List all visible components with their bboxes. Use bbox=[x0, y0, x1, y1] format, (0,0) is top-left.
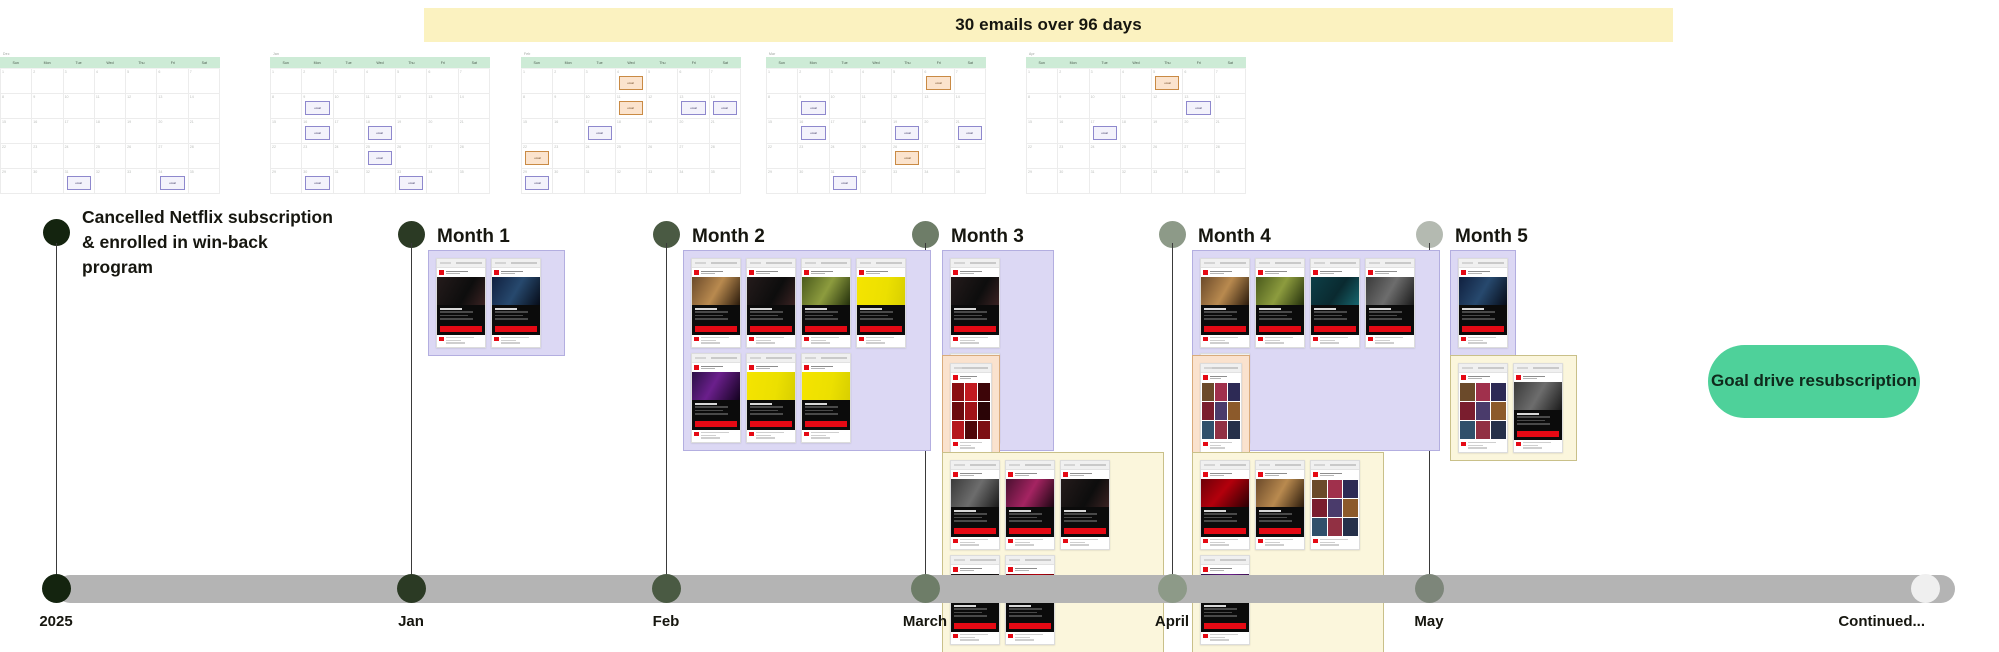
calendar-day-cell[interactable]: 23 bbox=[798, 144, 829, 169]
email-cta-button[interactable] bbox=[1204, 528, 1246, 534]
email-thumbnail[interactable] bbox=[801, 353, 851, 443]
email-thumbnail[interactable] bbox=[1200, 460, 1250, 550]
email-cta-button[interactable] bbox=[1314, 326, 1356, 332]
calendar-day-cell[interactable]: 34email bbox=[157, 169, 188, 194]
email-cta-button[interactable] bbox=[695, 326, 737, 332]
calendar-day-cell[interactable]: 16 bbox=[1058, 119, 1089, 144]
calendar-day-cell[interactable]: 27 bbox=[427, 144, 458, 169]
calendar-day-cell[interactable]: 32 bbox=[1121, 169, 1152, 194]
calendar-day-cell[interactable]: 18 bbox=[95, 119, 126, 144]
calendar-day-cell[interactable]: 35 bbox=[710, 169, 741, 194]
calendar-day-cell[interactable]: 15 bbox=[1027, 119, 1058, 144]
calendar-day-cell[interactable]: 34 bbox=[427, 169, 458, 194]
calendar-day-cell[interactable]: 20 bbox=[923, 119, 954, 144]
email-group[interactable] bbox=[942, 452, 1164, 652]
calendar-day-cell[interactable]: 12 bbox=[892, 94, 923, 119]
email-thumbnail[interactable] bbox=[691, 353, 741, 443]
calendar-day-cell[interactable]: 18email bbox=[365, 119, 396, 144]
calendar-day-cell[interactable]: 28 bbox=[189, 144, 220, 169]
calendar-day-cell[interactable]: 23 bbox=[1058, 144, 1089, 169]
calendar-day-cell[interactable]: 16email bbox=[798, 119, 829, 144]
email-footer-lines bbox=[1375, 337, 1413, 345]
email-footer bbox=[1201, 632, 1249, 644]
calendar-day-cell[interactable]: 15 bbox=[522, 119, 553, 144]
calendar-day-cell[interactable]: 24 bbox=[334, 144, 365, 169]
calendar-day-cell[interactable]: 30 bbox=[553, 169, 584, 194]
calendar-day-cell[interactable]: 24 bbox=[64, 144, 95, 169]
calendar-day-cell[interactable]: 10 bbox=[64, 94, 95, 119]
calendar-email-event[interactable]: email bbox=[588, 126, 612, 140]
calendar-day-cell[interactable]: 1 bbox=[767, 69, 798, 94]
calendar-weekday: Fri bbox=[923, 61, 954, 65]
calendar-day-cell[interactable]: 25 bbox=[616, 144, 647, 169]
email-cta-button[interactable] bbox=[860, 326, 902, 332]
calendar-day-cell[interactable]: 31 bbox=[585, 169, 616, 194]
calendar-day-cell[interactable]: 10 bbox=[830, 94, 861, 119]
calendar-day-cell[interactable]: 13 bbox=[157, 94, 188, 119]
calendar-day-cell[interactable]: 33 bbox=[1152, 169, 1183, 194]
email-thumbnail[interactable] bbox=[801, 258, 851, 348]
calendar-day-cell[interactable]: 2 bbox=[798, 69, 829, 94]
calendar-day-cell[interactable]: 3 bbox=[334, 69, 365, 94]
calendar-day-cell[interactable]: 6 bbox=[1183, 69, 1214, 94]
calendar-day-cell[interactable]: 27 bbox=[923, 144, 954, 169]
netflix-logo-icon bbox=[1313, 337, 1318, 341]
calendar-day-cell[interactable]: 8 bbox=[1, 94, 32, 119]
calendar-day-cell[interactable]: 12 bbox=[396, 94, 427, 119]
email-footer-lines bbox=[1210, 337, 1248, 345]
calendar-day-cell[interactable]: 22email bbox=[522, 144, 553, 169]
calendar-day-cell[interactable]: 26email bbox=[892, 144, 923, 169]
calendar-day-cell[interactable]: 14email bbox=[710, 94, 741, 119]
netflix-logo-icon bbox=[1368, 337, 1373, 341]
email-thumbnail[interactable] bbox=[1005, 460, 1055, 550]
calendar-email-event[interactable]: email bbox=[619, 101, 643, 115]
calendar-day-cell[interactable]: 32 bbox=[861, 169, 892, 194]
calendar-event-label: email bbox=[75, 181, 81, 185]
calendar-day-cell[interactable]: 22 bbox=[1, 144, 32, 169]
email-sender-lines bbox=[960, 473, 998, 477]
email-thumbnail[interactable] bbox=[1513, 363, 1563, 453]
calendar-day-cell[interactable]: 16 bbox=[32, 119, 63, 144]
email-poster-tile bbox=[1312, 499, 1327, 517]
calendar-email-event[interactable]: email bbox=[895, 126, 919, 140]
calendar-email-event[interactable]: email bbox=[525, 151, 549, 165]
calendar-day-cell[interactable]: 32 bbox=[365, 169, 396, 194]
email-thumbnail[interactable] bbox=[950, 363, 992, 453]
calendar-day-cell[interactable]: 34 bbox=[1183, 169, 1214, 194]
calendar-day-cell[interactable]: 10 bbox=[1090, 94, 1121, 119]
calendar-day-cell[interactable]: 11 bbox=[861, 94, 892, 119]
calendar-day-cell[interactable]: 27 bbox=[678, 144, 709, 169]
calendar-day-cell[interactable]: 6 bbox=[678, 69, 709, 94]
calendar-day-cell[interactable]: 7 bbox=[1215, 69, 1246, 94]
calendar-day-cell[interactable]: 2 bbox=[1058, 69, 1089, 94]
calendar-day-cell[interactable]: 21 bbox=[459, 119, 490, 144]
calendar-day-cell[interactable]: 30 bbox=[32, 169, 63, 194]
calendar-day-cell[interactable]: 5 bbox=[396, 69, 427, 94]
calendar-day-cell[interactable]: 7 bbox=[955, 69, 986, 94]
calendar-day-cell[interactable]: 9 bbox=[32, 94, 63, 119]
calendar-day-cell[interactable]: 11 bbox=[1121, 94, 1152, 119]
calendar-email-event[interactable]: email bbox=[399, 176, 423, 190]
calendar-day-cell[interactable]: 2 bbox=[302, 69, 333, 94]
calendar-email-event[interactable]: email bbox=[1155, 76, 1179, 90]
email-thumbnail[interactable] bbox=[1458, 258, 1508, 348]
email-thumbnail[interactable] bbox=[1200, 363, 1242, 453]
calendar-day-cell[interactable]: 13email bbox=[1183, 94, 1214, 119]
calendar-email-event[interactable]: email bbox=[833, 176, 857, 190]
calendar-day-cell[interactable]: 26 bbox=[396, 144, 427, 169]
calendar-day-cell[interactable]: 32 bbox=[95, 169, 126, 194]
calendar-day-cell[interactable]: 8 bbox=[1027, 94, 1058, 119]
calendar-day-cell[interactable]: 12 bbox=[1152, 94, 1183, 119]
calendar-email-event[interactable]: email bbox=[958, 126, 982, 140]
calendar-day-cell[interactable]: 35 bbox=[1215, 169, 1246, 194]
calendar-day-cell[interactable]: 8 bbox=[522, 94, 553, 119]
calendar-day-number: 30 bbox=[799, 170, 828, 175]
calendar-day-cell[interactable]: 24 bbox=[1090, 144, 1121, 169]
calendar-day-cell[interactable]: 16 bbox=[553, 119, 584, 144]
calendar-day-cell[interactable]: 5 bbox=[892, 69, 923, 94]
calendar-day-cell[interactable]: 11email bbox=[616, 94, 647, 119]
calendar-email-event[interactable]: email bbox=[67, 176, 91, 190]
calendar-day-cell[interactable]: 10 bbox=[334, 94, 365, 119]
calendar-day-number: 15 bbox=[523, 120, 552, 125]
email-footer-lines bbox=[446, 337, 484, 345]
email-cta-button[interactable] bbox=[1517, 431, 1559, 437]
calendar-day-cell[interactable]: 28 bbox=[955, 144, 986, 169]
calendar-email-event[interactable]: email bbox=[305, 101, 329, 115]
calendar-day-cell[interactable]: 22 bbox=[271, 144, 302, 169]
email-thumbnail[interactable] bbox=[1060, 460, 1110, 550]
calendar-email-event[interactable]: email bbox=[160, 176, 184, 190]
calendar-day-cell[interactable]: 6 bbox=[427, 69, 458, 94]
calendar-day-cell[interactable]: 24 bbox=[585, 144, 616, 169]
calendar-day-cell[interactable]: 27 bbox=[157, 144, 188, 169]
email-cta-button[interactable] bbox=[495, 326, 537, 332]
calendar-day-cell[interactable]: 3 bbox=[1090, 69, 1121, 94]
calendar-day-cell[interactable]: 9 bbox=[1058, 94, 1089, 119]
email-thumbnail[interactable] bbox=[1255, 460, 1305, 550]
calendar-day-cell[interactable]: 33 bbox=[892, 169, 923, 194]
email-cta-button[interactable] bbox=[954, 326, 996, 332]
calendar-day-cell[interactable]: 18 bbox=[861, 119, 892, 144]
calendar-day-cell[interactable]: 1 bbox=[1027, 69, 1058, 94]
calendar-day-cell[interactable]: 1 bbox=[271, 69, 302, 94]
calendar-day-cell[interactable]: 14 bbox=[1215, 94, 1246, 119]
email-thumbnail[interactable] bbox=[1255, 258, 1305, 348]
axis-tick-dot[interactable] bbox=[1158, 574, 1187, 603]
calendar-email-event[interactable]: email bbox=[1093, 126, 1117, 140]
email-thumbnail[interactable] bbox=[1458, 363, 1508, 453]
calendar-day-cell[interactable]: 29 bbox=[271, 169, 302, 194]
email-client-header bbox=[1201, 461, 1249, 470]
email-cta-button[interactable] bbox=[1369, 326, 1411, 332]
calendar-day-cell[interactable]: 28 bbox=[710, 144, 741, 169]
axis-tick-dot[interactable] bbox=[652, 574, 681, 603]
calendar-day-cell[interactable]: 23 bbox=[32, 144, 63, 169]
email-thumbnail[interactable] bbox=[856, 258, 906, 348]
email-thumbnail[interactable] bbox=[491, 258, 541, 348]
calendar-day-cell[interactable]: 35 bbox=[955, 169, 986, 194]
calendar-day-cell[interactable]: 33email bbox=[396, 169, 427, 194]
calendar-email-event[interactable]: email bbox=[368, 126, 392, 140]
calendar-day-cell[interactable]: 8 bbox=[767, 94, 798, 119]
calendar-day-cell[interactable]: 21email bbox=[955, 119, 986, 144]
calendar-day-number: 1 bbox=[1028, 70, 1057, 75]
calendar-day-cell[interactable]: 23 bbox=[553, 144, 584, 169]
calendar-day-cell[interactable]: 25 bbox=[1121, 144, 1152, 169]
calendar-day-cell[interactable]: 29 bbox=[767, 169, 798, 194]
calendar-event-label: email bbox=[722, 106, 728, 110]
calendar-day-cell[interactable]: 5 bbox=[126, 69, 157, 94]
calendar-day-cell[interactable]: 13 bbox=[427, 94, 458, 119]
email-thumbnail[interactable] bbox=[1310, 460, 1360, 550]
calendar-day-cell[interactable]: 9email bbox=[302, 94, 333, 119]
email-thumbnail[interactable] bbox=[746, 353, 796, 443]
calendar-day-number: 28 bbox=[460, 145, 489, 150]
email-cta-button[interactable] bbox=[750, 421, 792, 427]
calendar-day-cell[interactable]: 29 bbox=[1027, 169, 1058, 194]
calendar-email-event[interactable]: email bbox=[681, 101, 705, 115]
calendar-day-cell[interactable]: 8 bbox=[271, 94, 302, 119]
email-cta-button[interactable] bbox=[1204, 326, 1246, 332]
calendar-day-cell[interactable]: 26 bbox=[647, 144, 678, 169]
calendar-day-cell[interactable]: 16email bbox=[302, 119, 333, 144]
calendar-weekday: Sat bbox=[459, 61, 490, 65]
calendar-day-cell[interactable]: 5 bbox=[647, 69, 678, 94]
calendar-email-event[interactable]: email bbox=[801, 126, 825, 140]
calendar-day-cell[interactable]: 17email bbox=[585, 119, 616, 144]
calendar-day-cell[interactable]: 29email bbox=[522, 169, 553, 194]
calendar-day-number: 19 bbox=[893, 120, 922, 125]
calendar-day-cell[interactable]: 30 bbox=[1058, 169, 1089, 194]
calendar-day-cell[interactable]: 19 bbox=[396, 119, 427, 144]
calendar-day-cell[interactable]: 17email bbox=[1090, 119, 1121, 144]
calendar-day-cell[interactable]: 31email bbox=[64, 169, 95, 194]
calendar-day-cell[interactable]: 19 bbox=[126, 119, 157, 144]
calendar-day-cell[interactable]: 6email bbox=[923, 69, 954, 94]
calendar-day-cell[interactable]: 29 bbox=[1, 169, 32, 194]
calendar-day-cell[interactable]: 20 bbox=[427, 119, 458, 144]
email-cta-button[interactable] bbox=[954, 623, 996, 629]
calendar-day-cell[interactable]: 27 bbox=[1183, 144, 1214, 169]
calendar-day-cell[interactable]: 9email bbox=[798, 94, 829, 119]
email-cta-button[interactable] bbox=[750, 326, 792, 332]
calendar-day-cell[interactable]: 21 bbox=[189, 119, 220, 144]
email-cta-button[interactable] bbox=[1009, 528, 1051, 534]
email-cta-button[interactable] bbox=[805, 326, 847, 332]
email-cta-button[interactable] bbox=[1009, 623, 1051, 629]
calendar-day-cell[interactable]: 18 bbox=[1121, 119, 1152, 144]
email-group[interactable] bbox=[1192, 452, 1384, 652]
calendar-day-cell[interactable]: 28 bbox=[1215, 144, 1246, 169]
calendar-day-number: 24 bbox=[335, 145, 364, 150]
calendar-day-cell[interactable]: 28 bbox=[459, 144, 490, 169]
email-cta-button[interactable] bbox=[954, 528, 996, 534]
calendar-email-event[interactable]: email bbox=[305, 176, 329, 190]
calendar-day-cell[interactable]: 13 bbox=[923, 94, 954, 119]
calendar-day-cell[interactable]: 4 bbox=[861, 69, 892, 94]
email-sender-lines bbox=[1210, 568, 1248, 572]
calendar-day-cell[interactable]: 4 bbox=[1121, 69, 1152, 94]
calendar-day-cell[interactable]: 17 bbox=[830, 119, 861, 144]
email-group[interactable] bbox=[428, 250, 565, 356]
calendar-day-cell[interactable]: 13email bbox=[678, 94, 709, 119]
calendar-day-cell[interactable]: 15 bbox=[1, 119, 32, 144]
calendar-day-cell[interactable]: 35 bbox=[189, 169, 220, 194]
calendar-day-cell[interactable]: 25email bbox=[365, 144, 396, 169]
email-footer-lines bbox=[1320, 337, 1358, 345]
calendar-email-event[interactable]: email bbox=[525, 176, 549, 190]
milestone-dot[interactable] bbox=[43, 219, 70, 246]
email-cta-button[interactable] bbox=[1204, 623, 1246, 629]
calendar-day-cell[interactable]: 12 bbox=[647, 94, 678, 119]
calendar-day-cell[interactable]: 3 bbox=[585, 69, 616, 94]
email-poster-tile bbox=[1228, 383, 1240, 401]
calendar-day-cell[interactable]: 11 bbox=[365, 94, 396, 119]
calendar-day-cell[interactable]: 34 bbox=[678, 169, 709, 194]
calendar-day-cell[interactable]: 5email bbox=[1152, 69, 1183, 94]
email-thumbnail[interactable] bbox=[436, 258, 486, 348]
calendar-day-number: 12 bbox=[1153, 95, 1182, 100]
calendar-day-cell[interactable]: 4email bbox=[616, 69, 647, 94]
calendar-email-event[interactable]: email bbox=[619, 76, 643, 90]
calendar-day-cell[interactable]: 1 bbox=[522, 69, 553, 94]
calendar-day-cell[interactable]: 33 bbox=[647, 169, 678, 194]
calendar-day-cell[interactable]: 2 bbox=[553, 69, 584, 94]
email-footer bbox=[1201, 335, 1249, 347]
calendar-day-cell[interactable]: 31email bbox=[830, 169, 861, 194]
calendar-day-cell[interactable]: 18 bbox=[616, 119, 647, 144]
calendar-day-cell[interactable]: 35 bbox=[459, 169, 490, 194]
calendar-day-cell[interactable]: 20 bbox=[678, 119, 709, 144]
calendar-day-cell[interactable]: 24 bbox=[830, 144, 861, 169]
calendar-day-number: 16 bbox=[303, 120, 332, 125]
calendar-day-cell[interactable]: 19 bbox=[647, 119, 678, 144]
axis-tick-label: April bbox=[1155, 613, 1189, 630]
netflix-logo-icon bbox=[1461, 337, 1466, 341]
calendar-day-cell[interactable]: 17 bbox=[64, 119, 95, 144]
calendar-day-cell[interactable]: 26 bbox=[126, 144, 157, 169]
calendar-day-cell[interactable]: 9 bbox=[553, 94, 584, 119]
calendar-day-cell[interactable]: 14 bbox=[955, 94, 986, 119]
email-group[interactable] bbox=[942, 355, 1000, 461]
calendar-day-cell[interactable]: 4 bbox=[95, 69, 126, 94]
email-thumbnail[interactable] bbox=[950, 258, 1000, 348]
axis-tick-dot[interactable] bbox=[911, 574, 940, 603]
email-thumbnail[interactable] bbox=[1200, 258, 1250, 348]
calendar-day-cell[interactable]: 15 bbox=[767, 119, 798, 144]
calendar-day-cell[interactable]: 14 bbox=[459, 94, 490, 119]
axis-tick-dot[interactable] bbox=[397, 574, 426, 603]
calendar-email-event[interactable]: email bbox=[1186, 101, 1210, 115]
calendar-day-cell[interactable]: 7 bbox=[710, 69, 741, 94]
calendar-day-number: 26 bbox=[397, 145, 426, 150]
email-cta-button[interactable] bbox=[1064, 528, 1106, 534]
email-cta-button[interactable] bbox=[440, 326, 482, 332]
calendar-day-cell[interactable]: 1 bbox=[1, 69, 32, 94]
calendar-email-event[interactable]: email bbox=[926, 76, 950, 90]
calendar-day-cell[interactable]: 12 bbox=[126, 94, 157, 119]
calendar-day-cell[interactable]: 30 bbox=[798, 169, 829, 194]
calendar-day-cell[interactable]: 21 bbox=[710, 119, 741, 144]
netflix-logo-icon bbox=[749, 337, 754, 341]
calendar-day-cell[interactable]: 19 bbox=[1152, 119, 1183, 144]
calendar-day-cell[interactable]: 31 bbox=[1090, 169, 1121, 194]
calendar-day-cell[interactable]: 7 bbox=[189, 69, 220, 94]
calendar-day-cell[interactable]: 25 bbox=[95, 144, 126, 169]
calendar-day-cell[interactable]: 32 bbox=[616, 169, 647, 194]
email-cta-button[interactable] bbox=[1259, 326, 1301, 332]
email-thumbnail[interactable] bbox=[950, 460, 1000, 550]
calendar-email-event[interactable]: email bbox=[801, 101, 825, 115]
email-sender-lines bbox=[1265, 473, 1303, 477]
email-body bbox=[747, 305, 795, 335]
calendar-day-cell[interactable]: 34 bbox=[923, 169, 954, 194]
calendar-day-cell[interactable]: 14 bbox=[189, 94, 220, 119]
calendar-day-cell[interactable]: 22 bbox=[767, 144, 798, 169]
email-thumbnail[interactable] bbox=[1310, 258, 1360, 348]
calendar-day-cell[interactable]: 30email bbox=[302, 169, 333, 194]
email-cta-button[interactable] bbox=[1462, 326, 1504, 332]
calendar-day-cell[interactable]: 4 bbox=[365, 69, 396, 94]
calendar-day-cell[interactable]: 15 bbox=[271, 119, 302, 144]
axis-tick-dot[interactable] bbox=[1415, 574, 1444, 603]
email-group[interactable] bbox=[1450, 250, 1516, 356]
calendar-day-cell[interactable]: 6 bbox=[157, 69, 188, 94]
calendar-day-cell[interactable]: 21 bbox=[1215, 119, 1246, 144]
email-thumbnail[interactable] bbox=[691, 258, 741, 348]
calendar-day-cell[interactable]: 10 bbox=[585, 94, 616, 119]
calendar-day-cell[interactable]: 25 bbox=[861, 144, 892, 169]
calendar-day-cell[interactable]: 2 bbox=[32, 69, 63, 94]
email-cta-button[interactable] bbox=[805, 421, 847, 427]
email-sender-row bbox=[802, 363, 850, 372]
email-group[interactable] bbox=[1192, 355, 1250, 461]
calendar-day-cell[interactable]: 20 bbox=[1183, 119, 1214, 144]
calendar-day-cell[interactable]: 26 bbox=[1152, 144, 1183, 169]
calendar-email-event[interactable]: email bbox=[895, 151, 919, 165]
calendar-day-cell[interactable]: 33 bbox=[126, 169, 157, 194]
email-group[interactable] bbox=[1450, 355, 1577, 461]
email-thumbnail[interactable] bbox=[746, 258, 796, 348]
email-thumbnail[interactable] bbox=[1365, 258, 1415, 348]
email-poster-tile bbox=[1460, 421, 1475, 439]
calendar-email-event[interactable]: email bbox=[713, 101, 737, 115]
netflix-logo-icon bbox=[1008, 567, 1013, 573]
axis-tick-dot[interactable] bbox=[1911, 574, 1940, 603]
calendar-email-event[interactable]: email bbox=[368, 151, 392, 165]
calendar-day-cell[interactable]: 7 bbox=[459, 69, 490, 94]
calendar-day-cell[interactable]: 3 bbox=[830, 69, 861, 94]
calendar-day-cell[interactable]: 19email bbox=[892, 119, 923, 144]
email-cta-button[interactable] bbox=[695, 421, 737, 427]
calendar-email-event[interactable]: email bbox=[305, 126, 329, 140]
axis-tick-dot[interactable] bbox=[42, 574, 71, 603]
calendar-day-cell[interactable]: 11 bbox=[95, 94, 126, 119]
calendar-day-cell[interactable]: 22 bbox=[1027, 144, 1058, 169]
calendar-day-cell[interactable]: 31 bbox=[334, 169, 365, 194]
calendar-day-cell[interactable]: 23 bbox=[302, 144, 333, 169]
email-cta-button[interactable] bbox=[1259, 528, 1301, 534]
calendar-day-cell[interactable]: 3 bbox=[64, 69, 95, 94]
milestone-stem bbox=[666, 243, 667, 583]
calendar-day-cell[interactable]: 17 bbox=[334, 119, 365, 144]
email-group[interactable] bbox=[683, 250, 931, 451]
calendar-day-cell[interactable]: 20 bbox=[157, 119, 188, 144]
